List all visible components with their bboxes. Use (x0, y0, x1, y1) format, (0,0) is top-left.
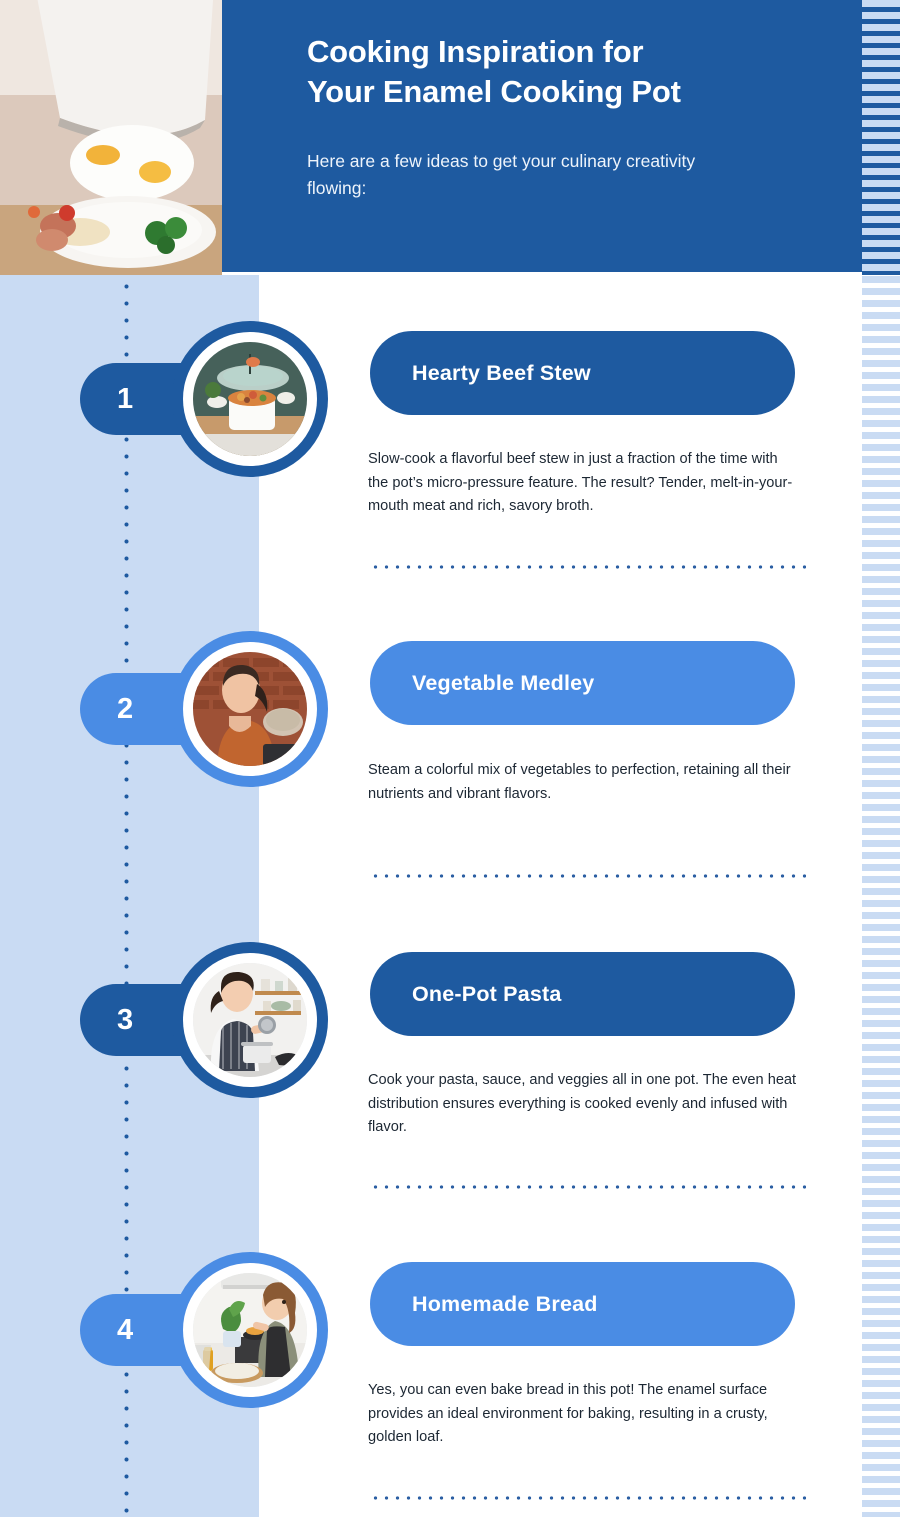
item-separator-dots (370, 1496, 806, 1500)
item-photo (193, 963, 307, 1077)
item-title-pill: One-Pot Pasta (370, 952, 795, 1036)
item-number: 3 (117, 1004, 133, 1037)
item-photo (193, 652, 307, 766)
item-separator-dots (370, 565, 806, 569)
item-photo (193, 1273, 307, 1387)
item-photo-ring (172, 631, 328, 787)
item-separator-dots (370, 1185, 806, 1189)
item-photo-inner-ring (183, 953, 317, 1087)
item-photo-inner-ring (183, 642, 317, 776)
infographic-page: Cooking Inspiration for Your Enamel Cook… (0, 0, 900, 1517)
item-number: 2 (117, 693, 133, 726)
item-title-pill: Homemade Bread (370, 1262, 795, 1346)
item-body: Steam a colorful mix of vegetables to pe… (368, 759, 798, 806)
item-title: Vegetable Medley (412, 671, 594, 696)
item-photo-ring (172, 942, 328, 1098)
item-number: 1 (117, 383, 133, 416)
item-title: One-Pot Pasta (412, 982, 562, 1007)
page-subtitle: Here are a few ideas to get your culinar… (307, 148, 737, 201)
page-title-line1: Cooking Inspiration for (307, 32, 827, 72)
item-title-pill: Vegetable Medley (370, 641, 795, 725)
item-photo-inner-ring (183, 1263, 317, 1397)
item-photo-ring (172, 1252, 328, 1408)
item-body: Yes, you can even bake bread in this pot… (368, 1379, 798, 1450)
item-photo (193, 342, 307, 456)
item-photo-inner-ring (183, 332, 317, 466)
right-stripe-pattern-header (862, 0, 900, 275)
page-title: Cooking Inspiration for Your Enamel Cook… (307, 32, 827, 111)
header-photo (0, 0, 222, 275)
item-title: Hearty Beef Stew (412, 361, 591, 386)
item-photo-ring (172, 321, 328, 477)
item-separator-dots (370, 874, 806, 878)
item-body: Slow-cook a flavorful beef stew in just … (368, 448, 798, 519)
item-number: 4 (117, 1314, 133, 1347)
item-title-pill: Hearty Beef Stew (370, 331, 795, 415)
page-title-line2: Your Enamel Cooking Pot (307, 72, 827, 112)
item-body: Cook your pasta, sauce, and veggies all … (368, 1069, 798, 1140)
item-title: Homemade Bread (412, 1292, 598, 1317)
